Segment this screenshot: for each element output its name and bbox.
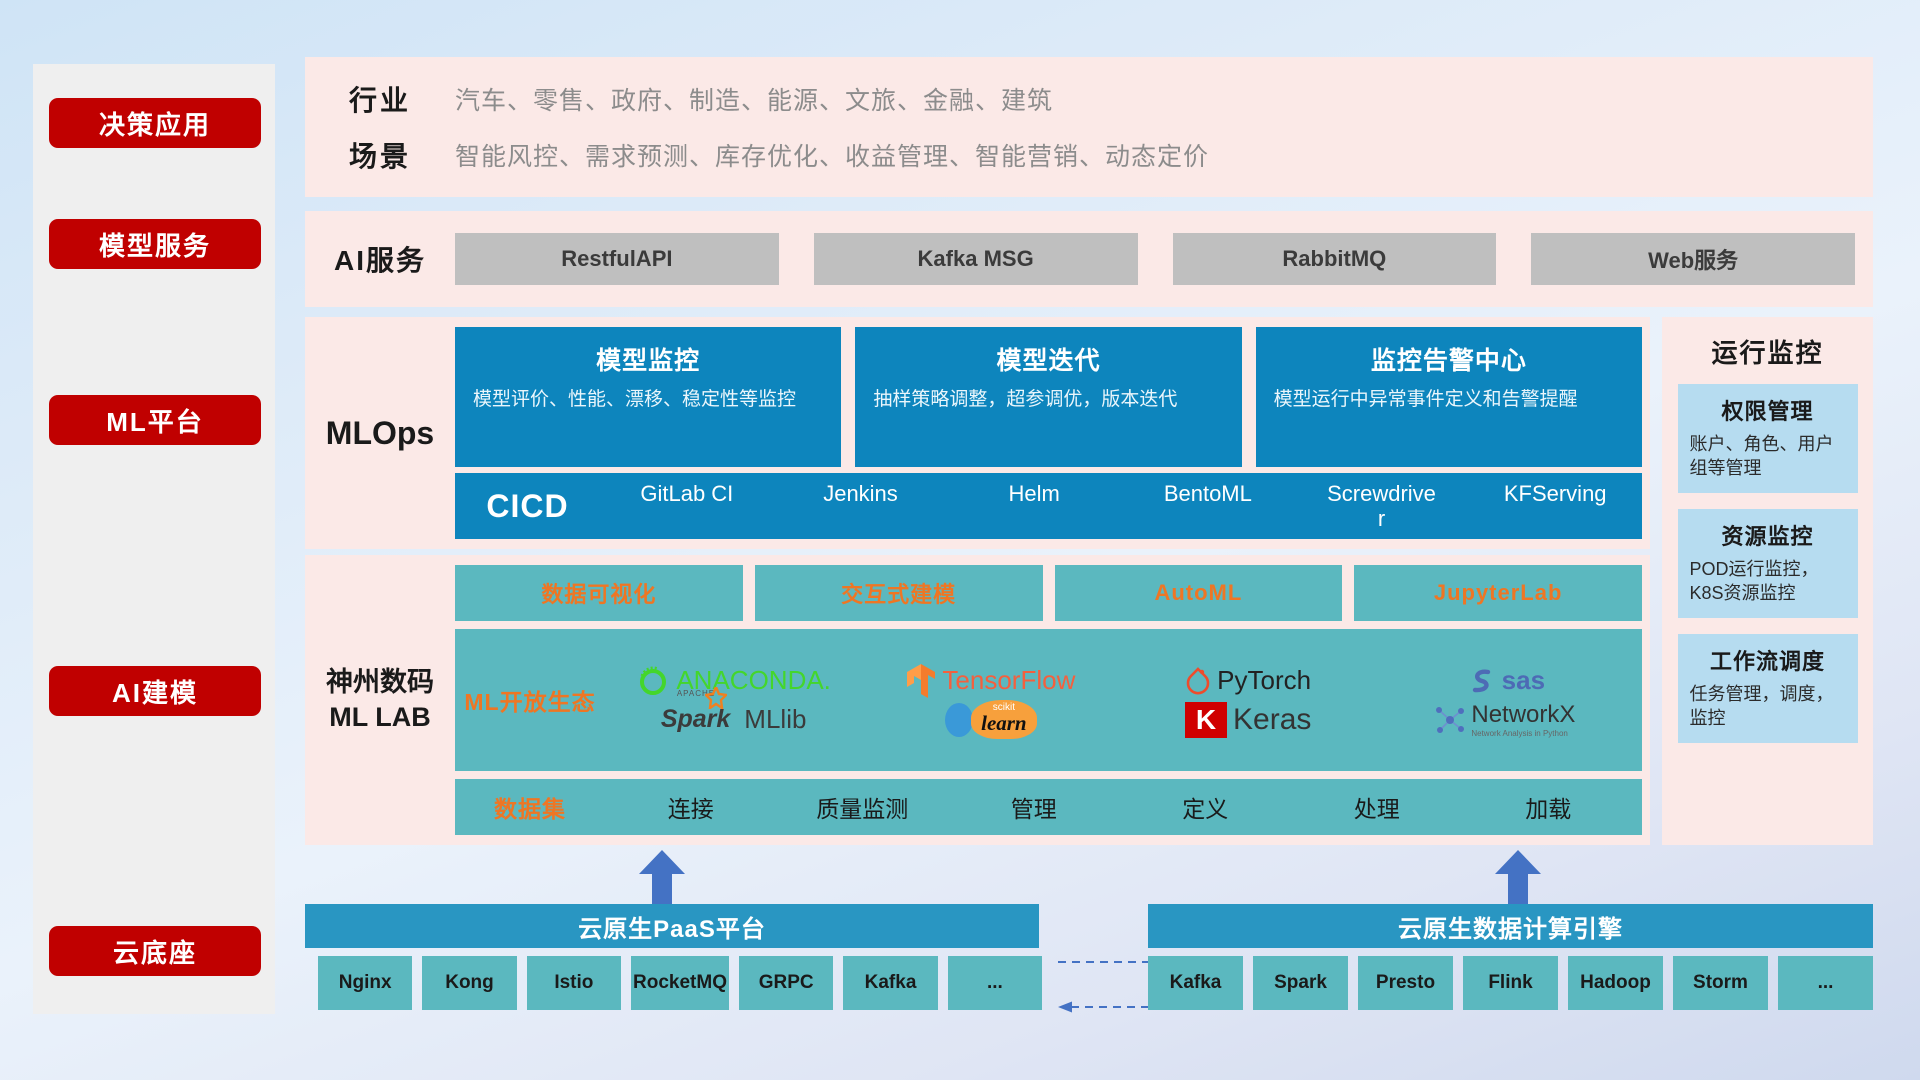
- cicd-item-screwdriver[interactable]: Screwdriver: [1327, 481, 1437, 532]
- card-desc: 抽样策略调整，超参调优，版本迭代: [873, 387, 1223, 412]
- ml-ecosystem-logo-grid: ANACONDA. TensorFlow: [605, 661, 1642, 739]
- dataset-item-quality[interactable]: 质量监测: [777, 790, 949, 824]
- decision-application-band: 行业 汽车、零售、政府、制造、能源、文旅、金融、建筑 场景 智能风控、需求预测、…: [305, 57, 1873, 197]
- ai-service-chip-list: RestfulAPI Kafka MSG RabbitMQ Web服务: [455, 233, 1873, 285]
- cloud-paas-chip-list: Nginx Kong Istio RocketMQ GRPC Kafka ...: [318, 956, 1042, 1010]
- card-desc: 任务管理，调度，监控: [1690, 683, 1846, 731]
- dataset-item-manage[interactable]: 管理: [948, 790, 1120, 824]
- cicd-item-list: GitLab CI Jenkins Helm BentoML Screwdriv…: [600, 481, 1642, 532]
- card-desc: 模型评价、性能、漂移、稳定性等监控: [473, 387, 823, 412]
- layer-rail: 决策应用 模型服务 ML平台 AI建模 云底座: [33, 64, 275, 1014]
- mlops-card-list: 模型监控 模型评价、性能、漂移、稳定性等监控 模型迭代 抽样策略调整，超参调优，…: [455, 327, 1642, 467]
- cloud-chip-istio[interactable]: Istio: [527, 956, 621, 1010]
- cloud-paas-header: 云原生PaaS平台: [305, 904, 1039, 948]
- card-desc: 账户、角色、用户组等管理: [1690, 433, 1846, 481]
- dataset-item-process[interactable]: 处理: [1291, 790, 1463, 824]
- cloud-chip-more[interactable]: ...: [948, 956, 1042, 1010]
- card-title: 权限管理: [1690, 394, 1846, 426]
- architecture-diagram: 决策应用 模型服务 ML平台 AI建模 云底座 行业 汽车、零售、政府、制造、能…: [0, 0, 1920, 1080]
- rail-label: 模型服务: [99, 226, 211, 263]
- sas-logo: sas: [1466, 665, 1545, 696]
- tool-chip-data-visualization[interactable]: 数据可视化: [455, 565, 743, 621]
- industry-values: 汽车、零售、政府、制造、能源、文旅、金融、建筑: [455, 81, 1053, 117]
- monitoring-title: 运行监控: [1711, 333, 1823, 370]
- rail-item-model-service[interactable]: 模型服务: [49, 219, 261, 269]
- spark-wordmark: Spark: [661, 705, 730, 734]
- tensorflow-logo: TensorFlow: [906, 663, 1075, 699]
- rail-item-ml-platform[interactable]: ML平台: [49, 395, 261, 445]
- ml-lab-label: 神州数码 ML LAB: [305, 665, 455, 735]
- service-chip-rabbitmq[interactable]: RabbitMQ: [1173, 233, 1497, 285]
- dataset-item-list: 连接 质量监测 管理 定义 处理 加载: [605, 790, 1642, 824]
- cicd-bar: CICD GitLab CI Jenkins Helm BentoML Scre…: [455, 473, 1642, 539]
- sas-wordmark: sas: [1502, 665, 1545, 696]
- scikit-orange-blob-icon: scikit learn: [971, 700, 1037, 739]
- card-desc: 模型运行中异常事件定义和告警提醒: [1274, 387, 1624, 412]
- monitor-card-workflow[interactable]: 工作流调度 任务管理，调度，监控: [1678, 634, 1858, 743]
- mllib-wordmark: MLlib: [744, 704, 806, 735]
- tool-chip-automl[interactable]: AutoML: [1055, 565, 1343, 621]
- scikit-blue-blob-icon: [945, 703, 973, 737]
- tool-chip-interactive-modeling[interactable]: 交互式建模: [755, 565, 1043, 621]
- networkx-graph-icon: [1435, 705, 1465, 735]
- ml-tool-chip-list: 数据可视化 交互式建模 AutoML JupyterLab: [455, 565, 1642, 621]
- tensorflow-wordmark: TensorFlow: [942, 665, 1075, 696]
- scenario-label: 场景: [305, 135, 455, 175]
- cicd-title: CICD: [455, 488, 600, 525]
- engine-chip-flink[interactable]: Flink: [1463, 956, 1558, 1010]
- service-chip-kafka-msg[interactable]: Kafka MSG: [814, 233, 1138, 285]
- tool-chip-jupyterlab[interactable]: JupyterLab: [1354, 565, 1642, 621]
- pytorch-logo: PyTorch: [1185, 664, 1311, 698]
- cicd-item-gitlab-ci[interactable]: GitLab CI: [632, 481, 742, 532]
- spark-star-icon: [705, 687, 727, 709]
- anaconda-logo: ANACONDA.: [636, 664, 831, 698]
- cicd-item-helm[interactable]: Helm: [979, 481, 1089, 532]
- learn-wordmark: learn: [981, 713, 1027, 734]
- ml-lab-label-line2: ML LAB: [305, 700, 455, 735]
- anaconda-mark-icon: [636, 664, 670, 698]
- monitor-card-permission[interactable]: 权限管理 账户、角色、用户组等管理: [1678, 384, 1858, 493]
- engine-chip-storm[interactable]: Storm: [1673, 956, 1768, 1010]
- paas-up-arrow-icon: [639, 850, 685, 908]
- ai-modeling-band: 神州数码 ML LAB 数据可视化 交互式建模 AutoML JupyterLa…: [305, 555, 1650, 845]
- cloud-chip-nginx[interactable]: Nginx: [318, 956, 412, 1010]
- engine-chip-more[interactable]: ...: [1778, 956, 1873, 1010]
- cloud-data-engine-header: 云原生数据计算引擎: [1148, 904, 1873, 948]
- industry-row: 行业 汽车、零售、政府、制造、能源、文旅、金融、建筑: [305, 71, 1873, 127]
- runtime-monitoring-column: 运行监控 权限管理 账户、角色、用户组等管理 资源监控 POD运行监控，K8S资…: [1662, 317, 1873, 845]
- mlops-content: 模型监控 模型评价、性能、漂移、稳定性等监控 模型迭代 抽样策略调整，超参调优，…: [455, 327, 1650, 539]
- dataset-item-define[interactable]: 定义: [1120, 790, 1292, 824]
- card-title: 工作流调度: [1690, 644, 1846, 676]
- card-desc: POD运行监控，K8S资源监控: [1690, 558, 1846, 606]
- cicd-item-bentoml[interactable]: BentoML: [1153, 481, 1263, 532]
- rail-item-decision-app[interactable]: 决策应用: [49, 98, 261, 148]
- dataset-label: 数据集: [455, 790, 605, 824]
- engine-chip-presto[interactable]: Presto: [1358, 956, 1453, 1010]
- networkx-logo: NetworkX Network Analysis in Python: [1435, 701, 1575, 738]
- cloud-chip-kong[interactable]: Kong: [422, 956, 516, 1010]
- scenario-values: 智能风控、需求预测、库存优化、收益管理、智能营销、动态定价: [455, 137, 1209, 173]
- pytorch-wordmark: PyTorch: [1217, 665, 1311, 696]
- scenario-row: 场景 智能风控、需求预测、库存优化、收益管理、智能营销、动态定价: [305, 127, 1873, 183]
- spark-mllib-logo: APACHE Spark MLlib: [661, 704, 807, 735]
- tensorflow-mark-icon: [906, 663, 936, 699]
- pytorch-mark-icon: [1185, 664, 1211, 698]
- dataset-item-load[interactable]: 加载: [1463, 790, 1635, 824]
- cloud-chip-kafka[interactable]: Kafka: [843, 956, 937, 1010]
- ml-ecosystem-label: ML开放生态: [455, 683, 605, 717]
- networkx-tagline: Network Analysis in Python: [1471, 729, 1575, 738]
- cloud-chip-rocketmq[interactable]: RocketMQ: [631, 956, 729, 1010]
- mlops-band: MLOps 模型监控 模型评价、性能、漂移、稳定性等监控 模型迭代 抽样策略调整…: [305, 317, 1650, 549]
- card-title: 监控告警中心: [1274, 341, 1624, 377]
- cloud-data-engine-chip-list: Kafka Spark Presto Flink Hadoop Storm ..…: [1148, 956, 1873, 1010]
- mlops-card-model-iteration[interactable]: 模型迭代 抽样策略调整，超参调优，版本迭代: [855, 327, 1241, 467]
- card-title: 模型监控: [473, 341, 823, 377]
- sas-mark-icon: [1466, 666, 1496, 696]
- ai-service-label: AI服务: [305, 239, 455, 279]
- keras-k-mark-icon: K: [1185, 702, 1227, 738]
- dataset-row: 数据集 连接 质量监测 管理 定义 处理 加载: [455, 779, 1642, 835]
- monitor-card-resource[interactable]: 资源监控 POD运行监控，K8S资源监控: [1678, 509, 1858, 618]
- mlops-card-model-monitoring[interactable]: 模型监控 模型评价、性能、漂移、稳定性等监控: [455, 327, 841, 467]
- industry-label: 行业: [305, 79, 455, 119]
- engine-chip-spark[interactable]: Spark: [1253, 956, 1348, 1010]
- rail-label: 云底座: [113, 933, 197, 970]
- dataset-item-connect[interactable]: 连接: [605, 790, 777, 824]
- keras-logo: K Keras: [1185, 702, 1312, 738]
- rail-label: 决策应用: [99, 105, 211, 142]
- data-engine-up-arrow-icon: [1495, 850, 1541, 908]
- cicd-item-jenkins[interactable]: Jenkins: [806, 481, 916, 532]
- service-chip-web[interactable]: Web服务: [1531, 233, 1855, 285]
- service-chip-restfulapi[interactable]: RestfulAPI: [455, 233, 779, 285]
- ml-ecosystem-row: ML开放生态 ANACONDA.: [455, 629, 1642, 771]
- cloud-chip-grpc[interactable]: GRPC: [739, 956, 833, 1010]
- rail-item-ai-modeling[interactable]: AI建模: [49, 666, 261, 716]
- rail-item-cloud-base[interactable]: 云底座: [49, 926, 261, 976]
- engine-chip-hadoop[interactable]: Hadoop: [1568, 956, 1663, 1010]
- ml-lab-content: 数据可视化 交互式建模 AutoML JupyterLab ML开放生态 ANA…: [455, 565, 1650, 835]
- rail-label: ML平台: [106, 402, 204, 439]
- ml-lab-label-line1: 神州数码: [305, 665, 455, 700]
- card-title: 模型迭代: [873, 341, 1223, 377]
- cicd-item-kfserving[interactable]: KFServing: [1500, 481, 1610, 532]
- engine-chip-kafka[interactable]: Kafka: [1148, 956, 1243, 1010]
- card-title: 资源监控: [1690, 519, 1846, 551]
- rail-label: AI建模: [112, 673, 198, 710]
- ai-service-band: AI服务 RestfulAPI Kafka MSG RabbitMQ Web服务: [305, 211, 1873, 307]
- mlops-card-alert-center[interactable]: 监控告警中心 模型运行中异常事件定义和告警提醒: [1256, 327, 1642, 467]
- networkx-wordmark: NetworkX: [1471, 701, 1575, 729]
- keras-wordmark: Keras: [1233, 703, 1311, 737]
- mlops-label: MLOps: [305, 415, 455, 452]
- scikit-learn-logo: scikit learn: [945, 700, 1037, 739]
